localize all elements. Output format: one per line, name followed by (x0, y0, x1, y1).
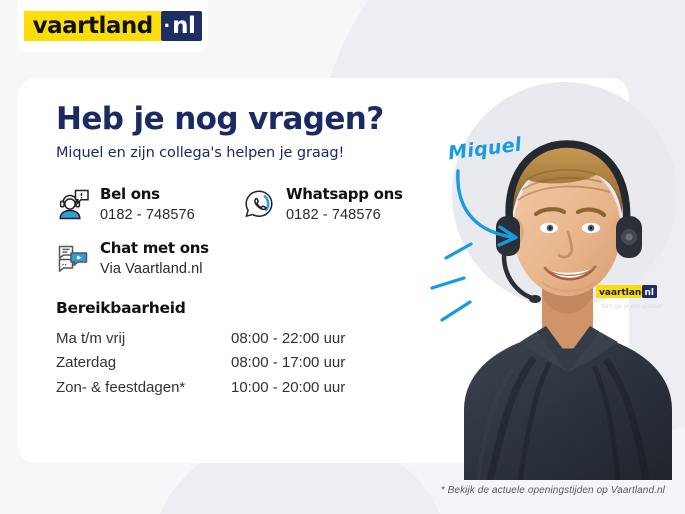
footnote: * Bekijk de actuele openingstijden op Va… (441, 485, 665, 496)
page-subtitle: Miquel en zijn collega's helpen je graag… (56, 145, 456, 161)
contact-whatsapp-title: Whatsapp ons (286, 185, 403, 203)
contact-methods: Bel ons 0182 - 748576 Whatsapp on (56, 185, 456, 277)
contact-item-whatsapp[interactable]: Whatsapp ons 0182 - 748576 (242, 185, 403, 223)
contact-item-chat[interactable]: Chat met ons Via Vaartland.nl (56, 239, 242, 277)
svg-text:vaartland: vaartland (599, 288, 648, 298)
opening-hours-title: Bereikbaarheid (56, 299, 456, 317)
logo-dot: · (164, 15, 171, 37)
shirt-logo: vaartland nl dan ga je om plazier (596, 285, 663, 310)
contact-chat-value: Via Vaartland.nl (100, 261, 209, 277)
hours-day: Ma t/m vrij (56, 327, 231, 351)
logo-wordmark-block: vaartland (24, 11, 161, 41)
contact-row-2: Chat met ons Via Vaartland.nl (56, 239, 456, 277)
hours-day: Zaterdag (56, 351, 231, 375)
card-content: Heb je nog vragen? Miquel en zijn colleg… (56, 102, 456, 400)
contact-whatsapp-value: 0182 - 748576 (286, 207, 403, 223)
table-row: Zon- & feestdagen* 10:00 - 20:00 uur (56, 376, 456, 400)
page-title: Heb je nog vragen? (56, 102, 456, 136)
hours-time: 08:00 - 17:00 uur (231, 351, 401, 375)
logo-tld: nl (172, 15, 195, 38)
contact-chat-title: Chat met ons (100, 239, 209, 257)
contact-chat-text: Chat met ons Via Vaartland.nl (100, 239, 209, 277)
chat-bubbles-icon (56, 241, 90, 275)
logo-wordmark: vaartland (33, 15, 153, 38)
hours-time: 08:00 - 22:00 uur (231, 327, 401, 351)
headset-mic (529, 295, 541, 303)
contact-call-text: Bel ons 0182 - 748576 (100, 185, 195, 223)
motion-lines-decoration (428, 240, 498, 340)
contact-whatsapp-text: Whatsapp ons 0182 - 748576 (286, 185, 403, 223)
contact-row-1: Bel ons 0182 - 748576 Whatsapp on (56, 185, 456, 223)
hours-day: Zon- & feestdagen* (56, 376, 231, 400)
contact-item-call[interactable]: Bel ons 0182 - 748576 (56, 185, 242, 223)
brand-logo[interactable]: vaartland · nl (18, 0, 208, 52)
headset-person-icon (56, 187, 90, 221)
logo-lockup: vaartland · nl (24, 11, 203, 41)
logo-tld-block: · nl (161, 11, 203, 41)
whatsapp-icon (242, 187, 276, 221)
hours-time: 10:00 - 20:00 uur (231, 376, 401, 400)
agent-illustration: Miquel (430, 60, 685, 480)
contact-call-title: Bel ons (100, 185, 160, 203)
opening-hours: Bereikbaarheid Ma t/m vrij 08:00 - 22:00… (56, 299, 456, 400)
svg-text:dan ga je om plazier: dan ga je om plazier (601, 303, 663, 310)
svg-text:nl: nl (645, 288, 655, 298)
table-row: Zaterdag 08:00 - 17:00 uur (56, 351, 456, 375)
contact-call-value: 0182 - 748576 (100, 207, 195, 223)
table-row: Ma t/m vrij 08:00 - 22:00 uur (56, 327, 456, 351)
